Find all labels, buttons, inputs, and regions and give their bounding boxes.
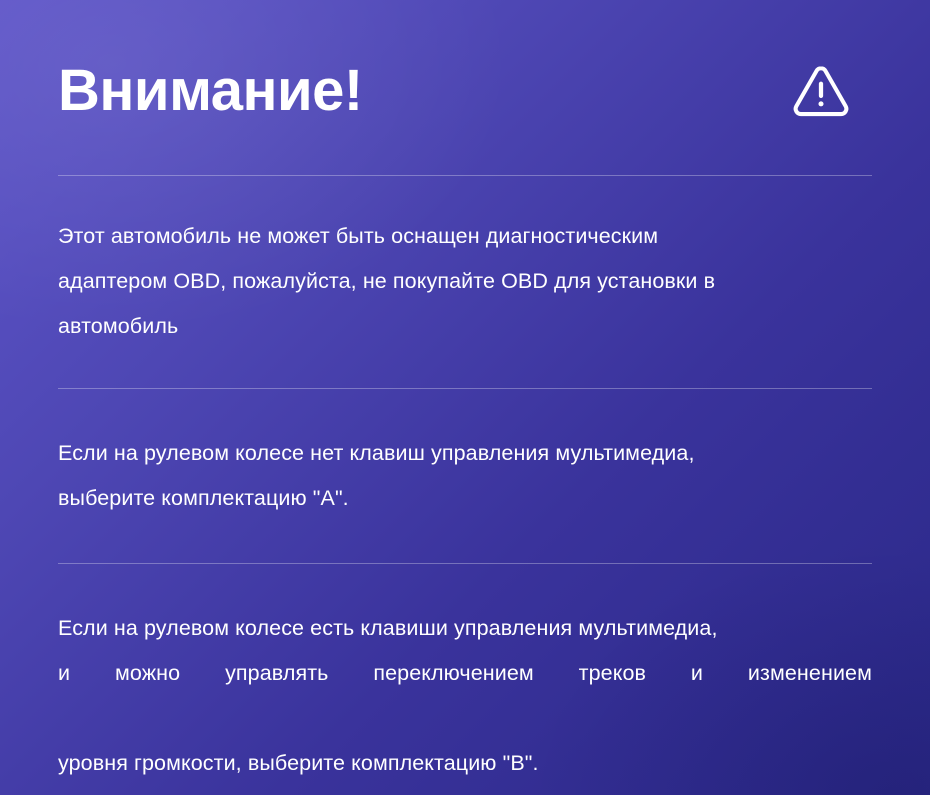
page-title: Внимание!: [58, 62, 363, 120]
notice-block-trim-a: Если на рулевом колесе нет клавиш управл…: [0, 389, 930, 563]
notice-line: Если на рулевом колесе нет клавиш управл…: [58, 431, 872, 476]
notice-text-trim-a: Если на рулевом колесе нет клавиш управл…: [58, 431, 872, 521]
warning-banner: Внимание! Этот автомобиль не может быть …: [0, 0, 930, 795]
notice-line: Если на рулевом колесе есть клавиши упра…: [58, 606, 872, 651]
notice-line: выберите комплектацию "A".: [58, 476, 872, 521]
notice-text-obd: Этот автомобиль не может быть оснащен ди…: [58, 214, 872, 349]
banner-header: Внимание!: [58, 0, 872, 175]
notice-text-trim-b: Если на рулевом колесе есть клавиши упра…: [58, 606, 872, 786]
notice-line: уровня громкости, выберите комплектацию …: [58, 741, 872, 786]
notice-line-text: и можно управлять переключением треков и…: [58, 661, 872, 685]
banner-header-area: Внимание!: [0, 0, 930, 175]
warning-triangle-icon: [790, 60, 872, 122]
notice-block-trim-b: Если на рулевом колесе есть клавиши упра…: [0, 564, 930, 795]
notice-line: автомобиль: [58, 304, 872, 349]
notice-block-obd: Этот автомобиль не может быть оснащен ди…: [0, 176, 930, 388]
notice-line: Этот автомобиль не может быть оснащен ди…: [58, 214, 872, 259]
notice-line: адаптером OBD, пожалуйста, не покупайте …: [58, 259, 872, 304]
notice-line-justified: и можно управлять переключением треков и…: [58, 651, 872, 741]
